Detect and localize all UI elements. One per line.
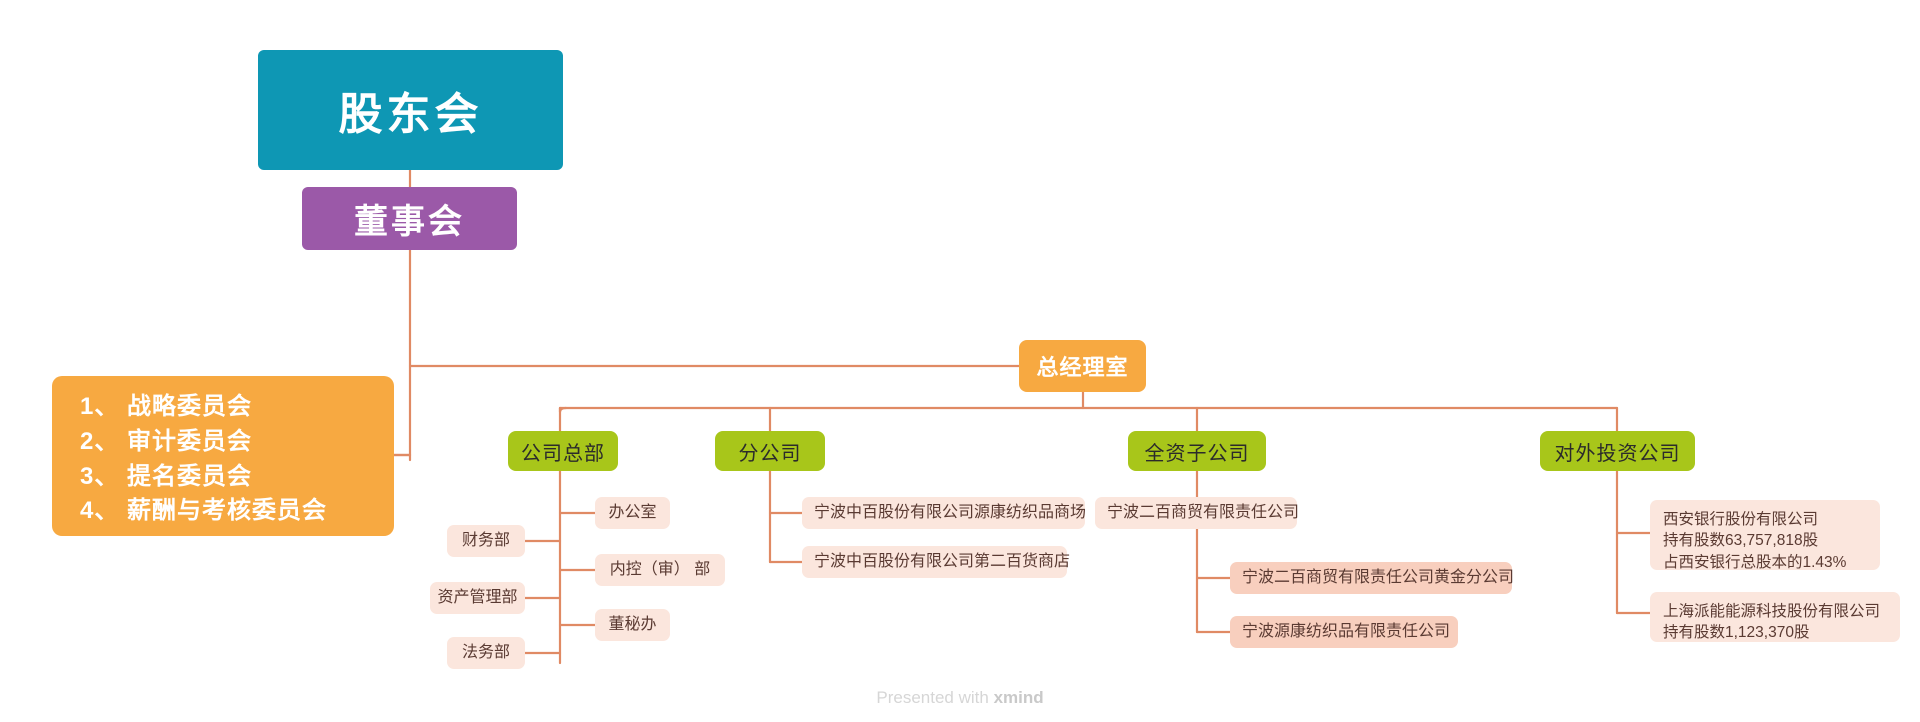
leaf-hq-finance-dept[interactable]: 财务部 [447, 525, 525, 557]
leaf-investment-pylon-technologies[interactable]: 上海派能能源科技股份有限公司 持有股数1,123,370股 [1650, 592, 1900, 642]
footer-prefix-text: Presented with [876, 688, 993, 707]
leaf-branch-second-department-store[interactable]: 宁波中百股份有限公司第二百货商店 [802, 546, 1067, 578]
node-shareholders-meeting[interactable]: 股东会 [258, 50, 563, 170]
node-committee-list[interactable]: 1、 战略委员会 2、 审计委员会 3、 提名委员会 4、 薪酬与考核委员会 [52, 376, 394, 536]
leaf-subsidiary-yuankang-textile[interactable]: 宁波源康纺织品有限责任公司 [1230, 616, 1458, 648]
leaf-hq-internal-control-audit[interactable]: 内控（审） 部 [595, 554, 725, 586]
footer-attribution: Presented with xmind [0, 688, 1920, 708]
footer-brand-xmind: xmind [994, 688, 1044, 707]
leaf-hq-office[interactable]: 办公室 [595, 497, 670, 529]
leaf-branch-yuankang-textile-market[interactable]: 宁波中百股份有限公司源康纺织品商场 [802, 497, 1085, 529]
node-general-manager-office[interactable]: 总经理室 [1019, 340, 1146, 392]
leaf-hq-legal-dept[interactable]: 法务部 [447, 637, 525, 669]
leaf-hq-board-secretary-office[interactable]: 董秘办 [595, 609, 670, 641]
leaf-subsidiary-ningbo-erbai-trading[interactable]: 宁波二百商贸有限责任公司 [1095, 497, 1297, 529]
org-chart-canvas: 股东会 董事会 1、 战略委员会 2、 审计委员会 3、 提名委员会 4、 薪酬… [0, 0, 1920, 722]
node-category-wholly-owned-subsidiaries[interactable]: 全资子公司 [1128, 431, 1266, 471]
node-category-branch-companies[interactable]: 分公司 [715, 431, 825, 471]
node-category-headquarters[interactable]: 公司总部 [508, 431, 618, 471]
node-board-of-directors[interactable]: 董事会 [302, 187, 517, 250]
node-category-outward-investment[interactable]: 对外投资公司 [1540, 431, 1695, 471]
leaf-subsidiary-erbai-gold-branch[interactable]: 宁波二百商贸有限责任公司黄金分公司 [1230, 562, 1512, 594]
leaf-investment-xian-bank[interactable]: 西安银行股份有限公司 持有股数63,757,818股 占西安银行总股本的1.43… [1650, 500, 1880, 570]
leaf-hq-asset-management-dept[interactable]: 资产管理部 [430, 582, 525, 614]
